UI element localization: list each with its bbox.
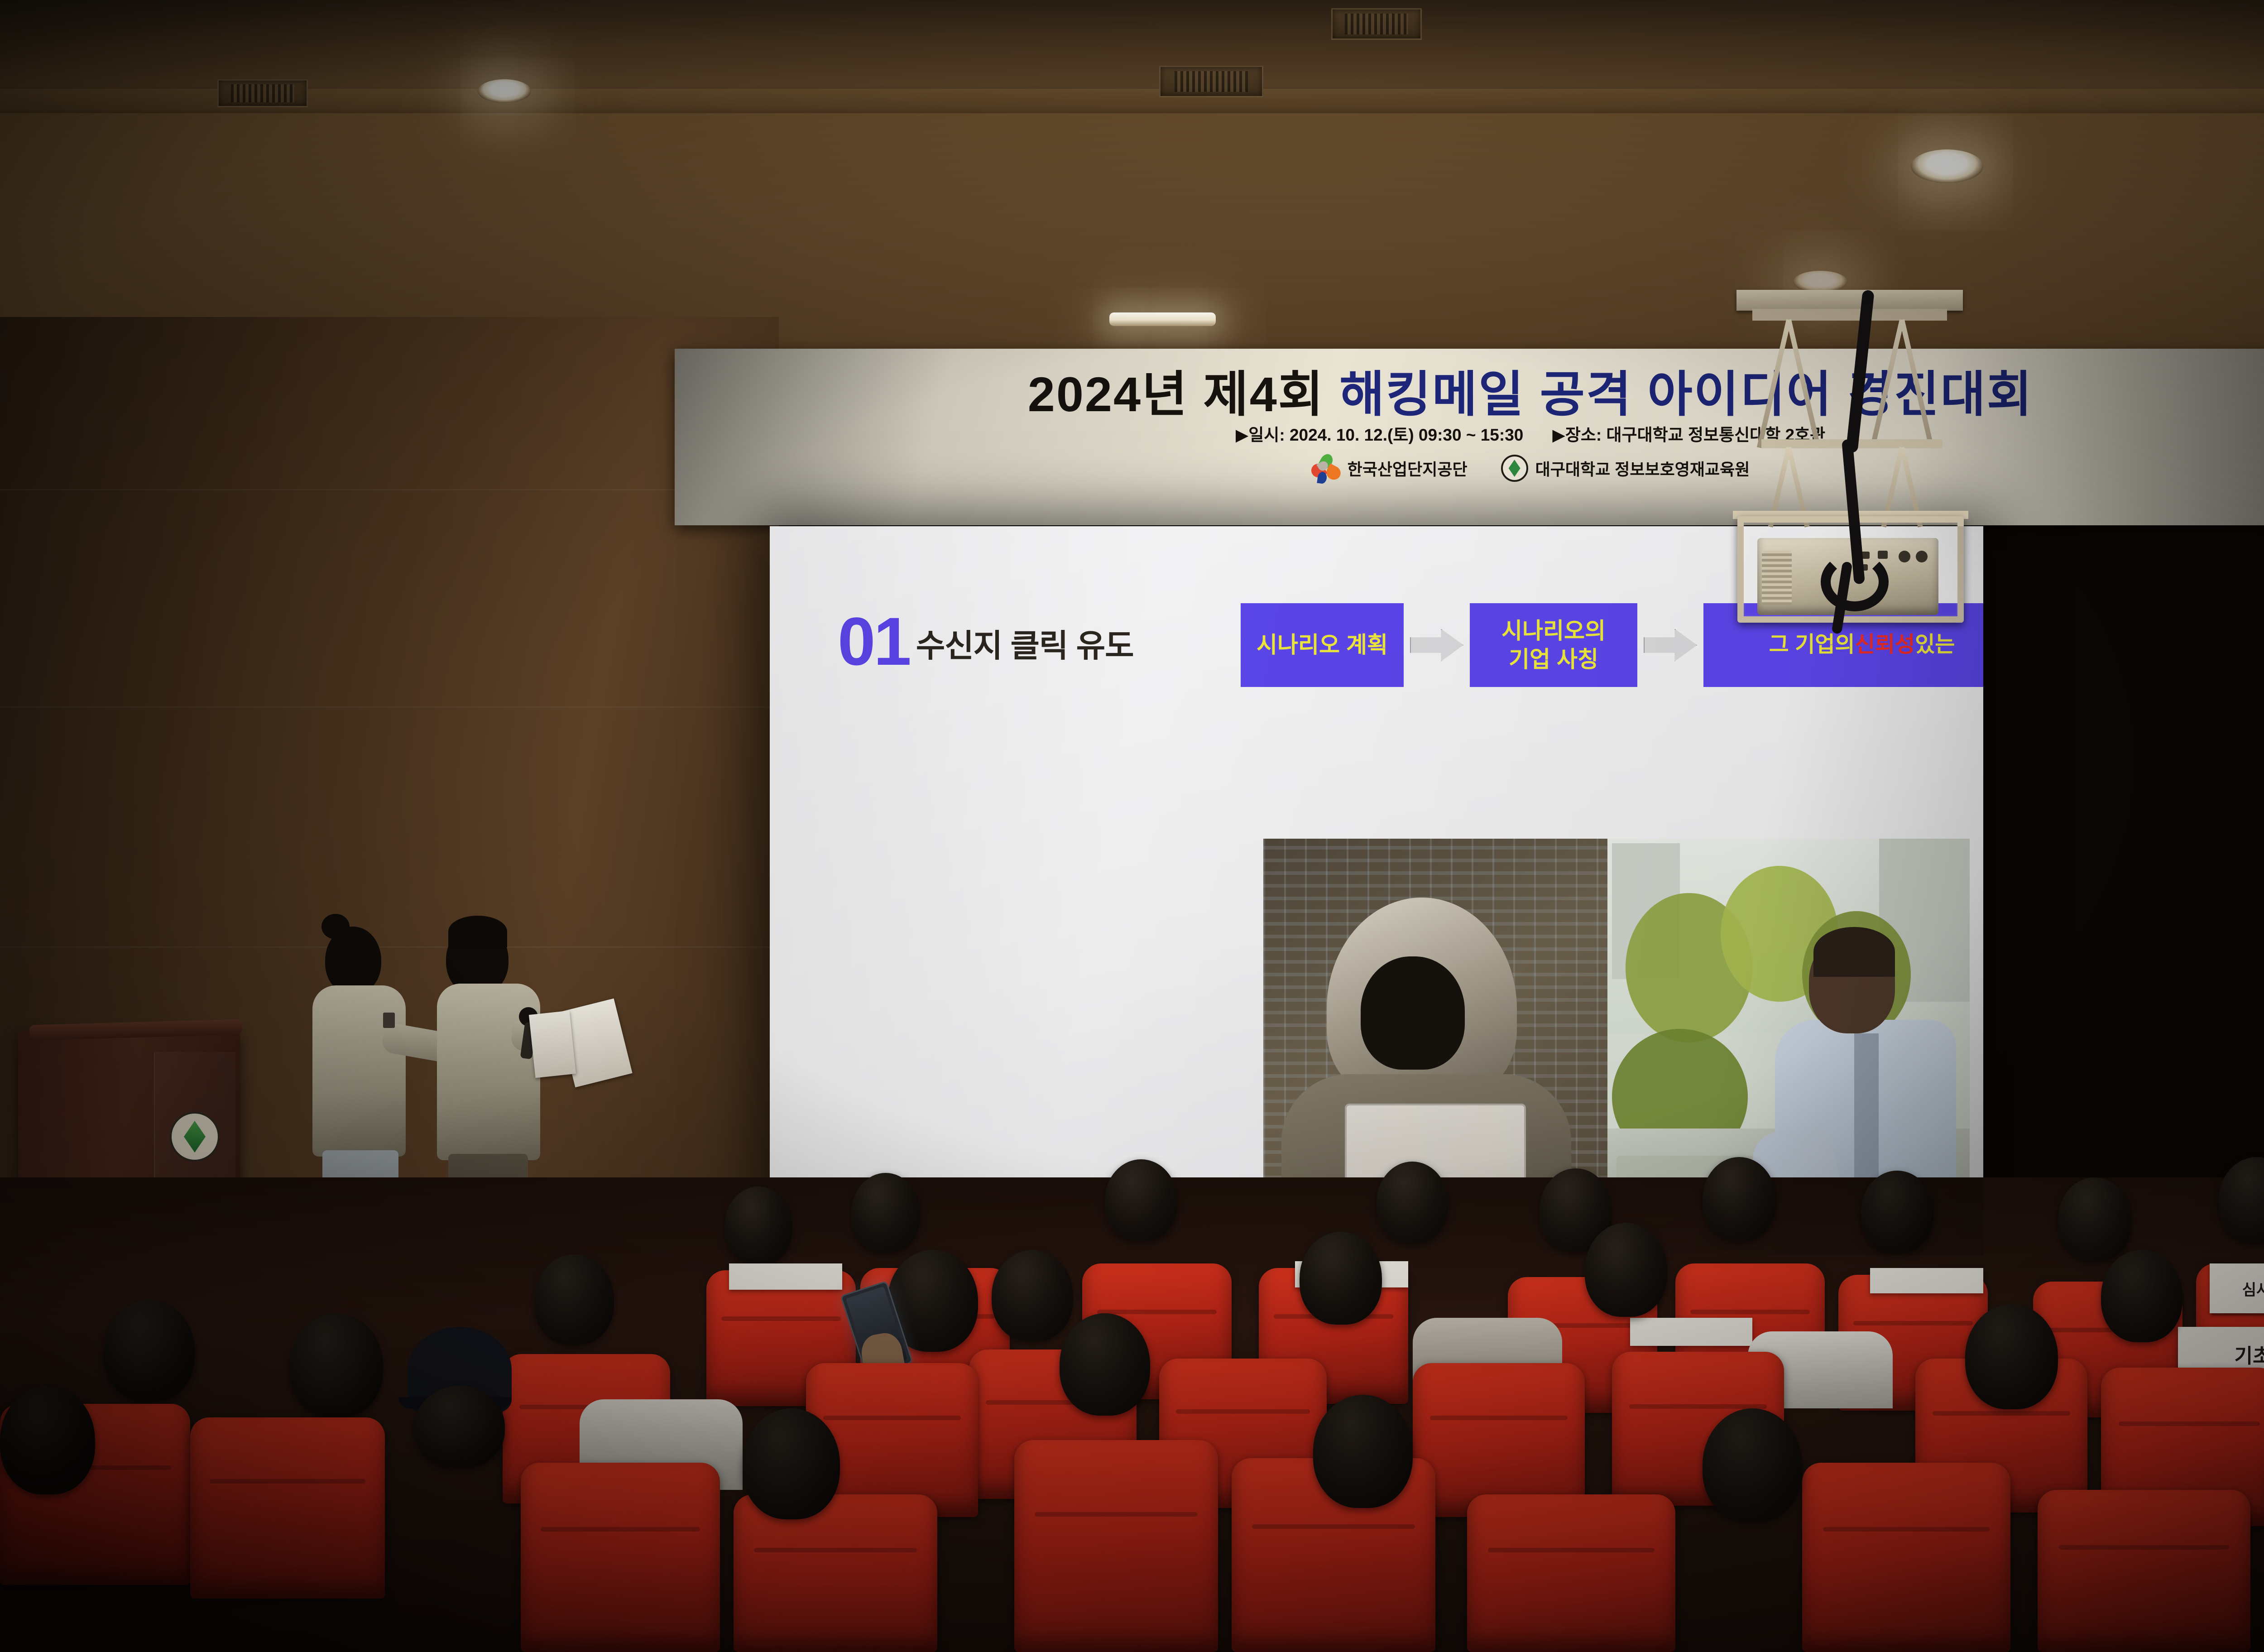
presentation-slide: 01 수신지 클릭 유도 시나리오 계획 시나리오의기업 사칭 그 기업의 신뢰… xyxy=(770,526,1983,1255)
daegu-university-emblem-icon xyxy=(170,1112,220,1162)
ceiling-downlight-icon xyxy=(478,79,531,103)
slide-section-title: 수신지 클릭 유도 xyxy=(916,620,1134,671)
audience-head xyxy=(851,1173,920,1253)
audience-head xyxy=(1861,1171,1933,1253)
auditorium-seat xyxy=(1413,1363,1585,1517)
flow-step-2: 시나리오의기업 사칭 xyxy=(1470,603,1637,687)
audience-head xyxy=(992,1250,1073,1341)
banner-organizers: 한국산업단지공단 대구대학교 정보보호영재교육원 xyxy=(675,454,2264,483)
audience-head xyxy=(1585,1223,1667,1317)
arrow-right-icon xyxy=(1410,629,1463,662)
seat-sign-blank xyxy=(729,1263,842,1290)
arrow-right-icon xyxy=(1644,629,1697,662)
audience-head xyxy=(414,1386,505,1467)
seat-sign-blank xyxy=(1870,1268,1983,1293)
kicox-pinwheel-logo-icon xyxy=(1311,454,1340,483)
slide-heading: 01 수신지 클릭 유도 xyxy=(838,612,1134,671)
organizer-daegu: 대구대학교 정보보호영재교육원 xyxy=(1501,455,1750,482)
auditorium-scene: 2024년 제4회 해킹메일 공격 아이디어 경진대회 ▶일시: 2024. 1… xyxy=(0,0,2264,1652)
auditorium-seat xyxy=(1467,1494,1675,1652)
audience-head xyxy=(2101,1250,2182,1342)
wall-seam xyxy=(0,946,779,948)
banner-date: ▶일시: 2024. 10. 12.(토) 09:30 ~ 15:30 xyxy=(1236,421,1524,446)
auditorium-seat xyxy=(1802,1463,2010,1652)
audience-head xyxy=(724,1186,792,1264)
ceiling-vent-icon xyxy=(1159,66,1263,97)
flow-step-3-pre: 그 기업의 xyxy=(1769,631,1855,658)
ceiling-downlight-icon xyxy=(1793,271,1847,293)
banner-title: 2024년 제4회 해킹메일 공격 아이디어 경진대회 xyxy=(675,355,2264,426)
auditorium-seat xyxy=(190,1417,385,1599)
banner-subline: ▶일시: 2024. 10. 12.(토) 09:30 ~ 15:30▶장소: … xyxy=(675,421,2264,446)
audience-head xyxy=(104,1300,195,1402)
flow-step-3-emphasis: 신뢰성 xyxy=(1855,631,1915,658)
audience-head xyxy=(1703,1157,1776,1241)
organizer-name: 한국산업단지공단 xyxy=(1348,456,1468,480)
auditorium-seat xyxy=(2038,1490,2250,1652)
seat-sign-blank xyxy=(1630,1318,1752,1346)
projection-screen: 01 수신지 클릭 유도 시나리오 계획 시나리오의기업 사칭 그 기업의 신뢰… xyxy=(770,526,1983,1255)
ceiling-striplight-icon xyxy=(1109,312,1216,326)
daegu-university-emblem-icon xyxy=(1501,455,1528,482)
wall-seam xyxy=(0,706,779,708)
auditorium-seat xyxy=(734,1494,937,1652)
organizer-name: 대구대학교 정보보호영재교육원 xyxy=(1535,456,1750,480)
ceiling-projector-rig xyxy=(1718,290,1981,634)
audience-head xyxy=(290,1313,383,1417)
audience-head xyxy=(1377,1162,1448,1243)
slide-section-number: 01 xyxy=(838,612,910,671)
audience-head xyxy=(0,1386,95,1494)
audience-head xyxy=(1300,1232,1382,1325)
audience-head xyxy=(1965,1304,2058,1409)
auditorium-seat xyxy=(521,1463,720,1652)
flow-step-3-post: 있는 xyxy=(1915,631,1955,658)
audience-head xyxy=(1105,1159,1177,1241)
banner-title-prefix: 2024년 제4회 xyxy=(1028,367,1339,422)
flow-step-1: 시나리오 계획 xyxy=(1241,603,1404,687)
auditorium-seat xyxy=(1014,1440,1218,1652)
ceiling-downlight-icon xyxy=(1911,149,1983,183)
event-banner: 2024년 제4회 해킹메일 공격 아이디어 경진대회 ▶일시: 2024. 1… xyxy=(675,349,2264,525)
audience-head xyxy=(534,1254,614,1345)
audience-head xyxy=(2058,1177,2131,1262)
judges-seat-sign: 심사위원석 xyxy=(2210,1263,2264,1313)
audience-head xyxy=(1703,1408,1802,1522)
ceiling-vent-icon xyxy=(217,79,308,107)
audience-head xyxy=(1060,1313,1150,1416)
organizer-kicox: 한국산업단지공단 xyxy=(1311,454,1468,483)
wall-seam xyxy=(0,489,779,490)
audience-head xyxy=(743,1408,840,1519)
ceiling-vent-icon xyxy=(1331,8,1422,40)
audience-head xyxy=(1313,1395,1413,1508)
